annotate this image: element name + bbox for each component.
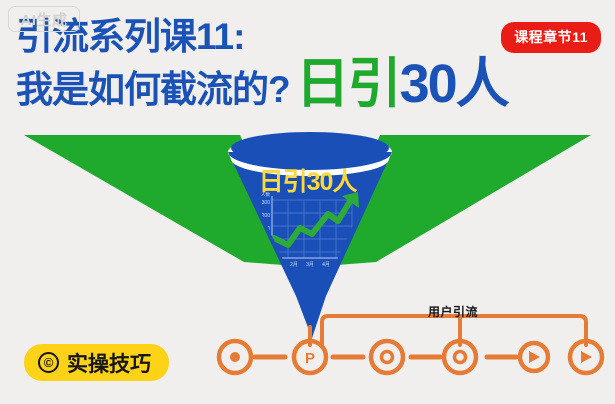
headline-block: 引流系列课11: 我是如何截流的? 日引 30人: [16, 18, 508, 108]
svg-text:3月: 3月: [306, 262, 314, 268]
headline-line-1: 引流系列课11:: [16, 18, 508, 55]
svg-text:2月: 2月: [290, 262, 298, 268]
ai-watermark: AI生成: [8, 6, 80, 32]
flow-node-dot-1[interactable]: [219, 341, 251, 373]
svg-text:4月: 4月: [322, 262, 330, 268]
flow-label: 用户引流: [428, 303, 478, 320]
headline-highlight-green: 日引: [296, 62, 400, 108]
chapter-badge[interactable]: 课程章节11: [501, 22, 601, 53]
funnel-top-opening: [231, 132, 389, 164]
headline-line-2: 我是如何截流的? 日引 30人: [16, 62, 508, 108]
poster-canvas: 人数 300 200 100 1月 2月 3月 4月 5月 6月: [0, 0, 615, 404]
flow-node-play-1[interactable]: [520, 343, 548, 371]
flow-node-dot-2[interactable]: [371, 341, 403, 373]
svg-text:300: 300: [262, 200, 271, 206]
skill-badge[interactable]: © 实操技巧: [24, 344, 169, 381]
svg-text:P: P: [305, 350, 315, 367]
headline-line-2-left: 我是如何截流的?: [16, 71, 290, 108]
headline-highlight-blue: 30人: [400, 62, 508, 108]
headline-highlight: 日引 30人: [296, 62, 508, 108]
skill-badge-label: 实操技巧: [67, 348, 151, 378]
copyright-icon: ©: [38, 352, 59, 373]
ai-watermark-text: AI生成: [20, 9, 67, 30]
svg-text:人数: 人数: [261, 191, 270, 198]
